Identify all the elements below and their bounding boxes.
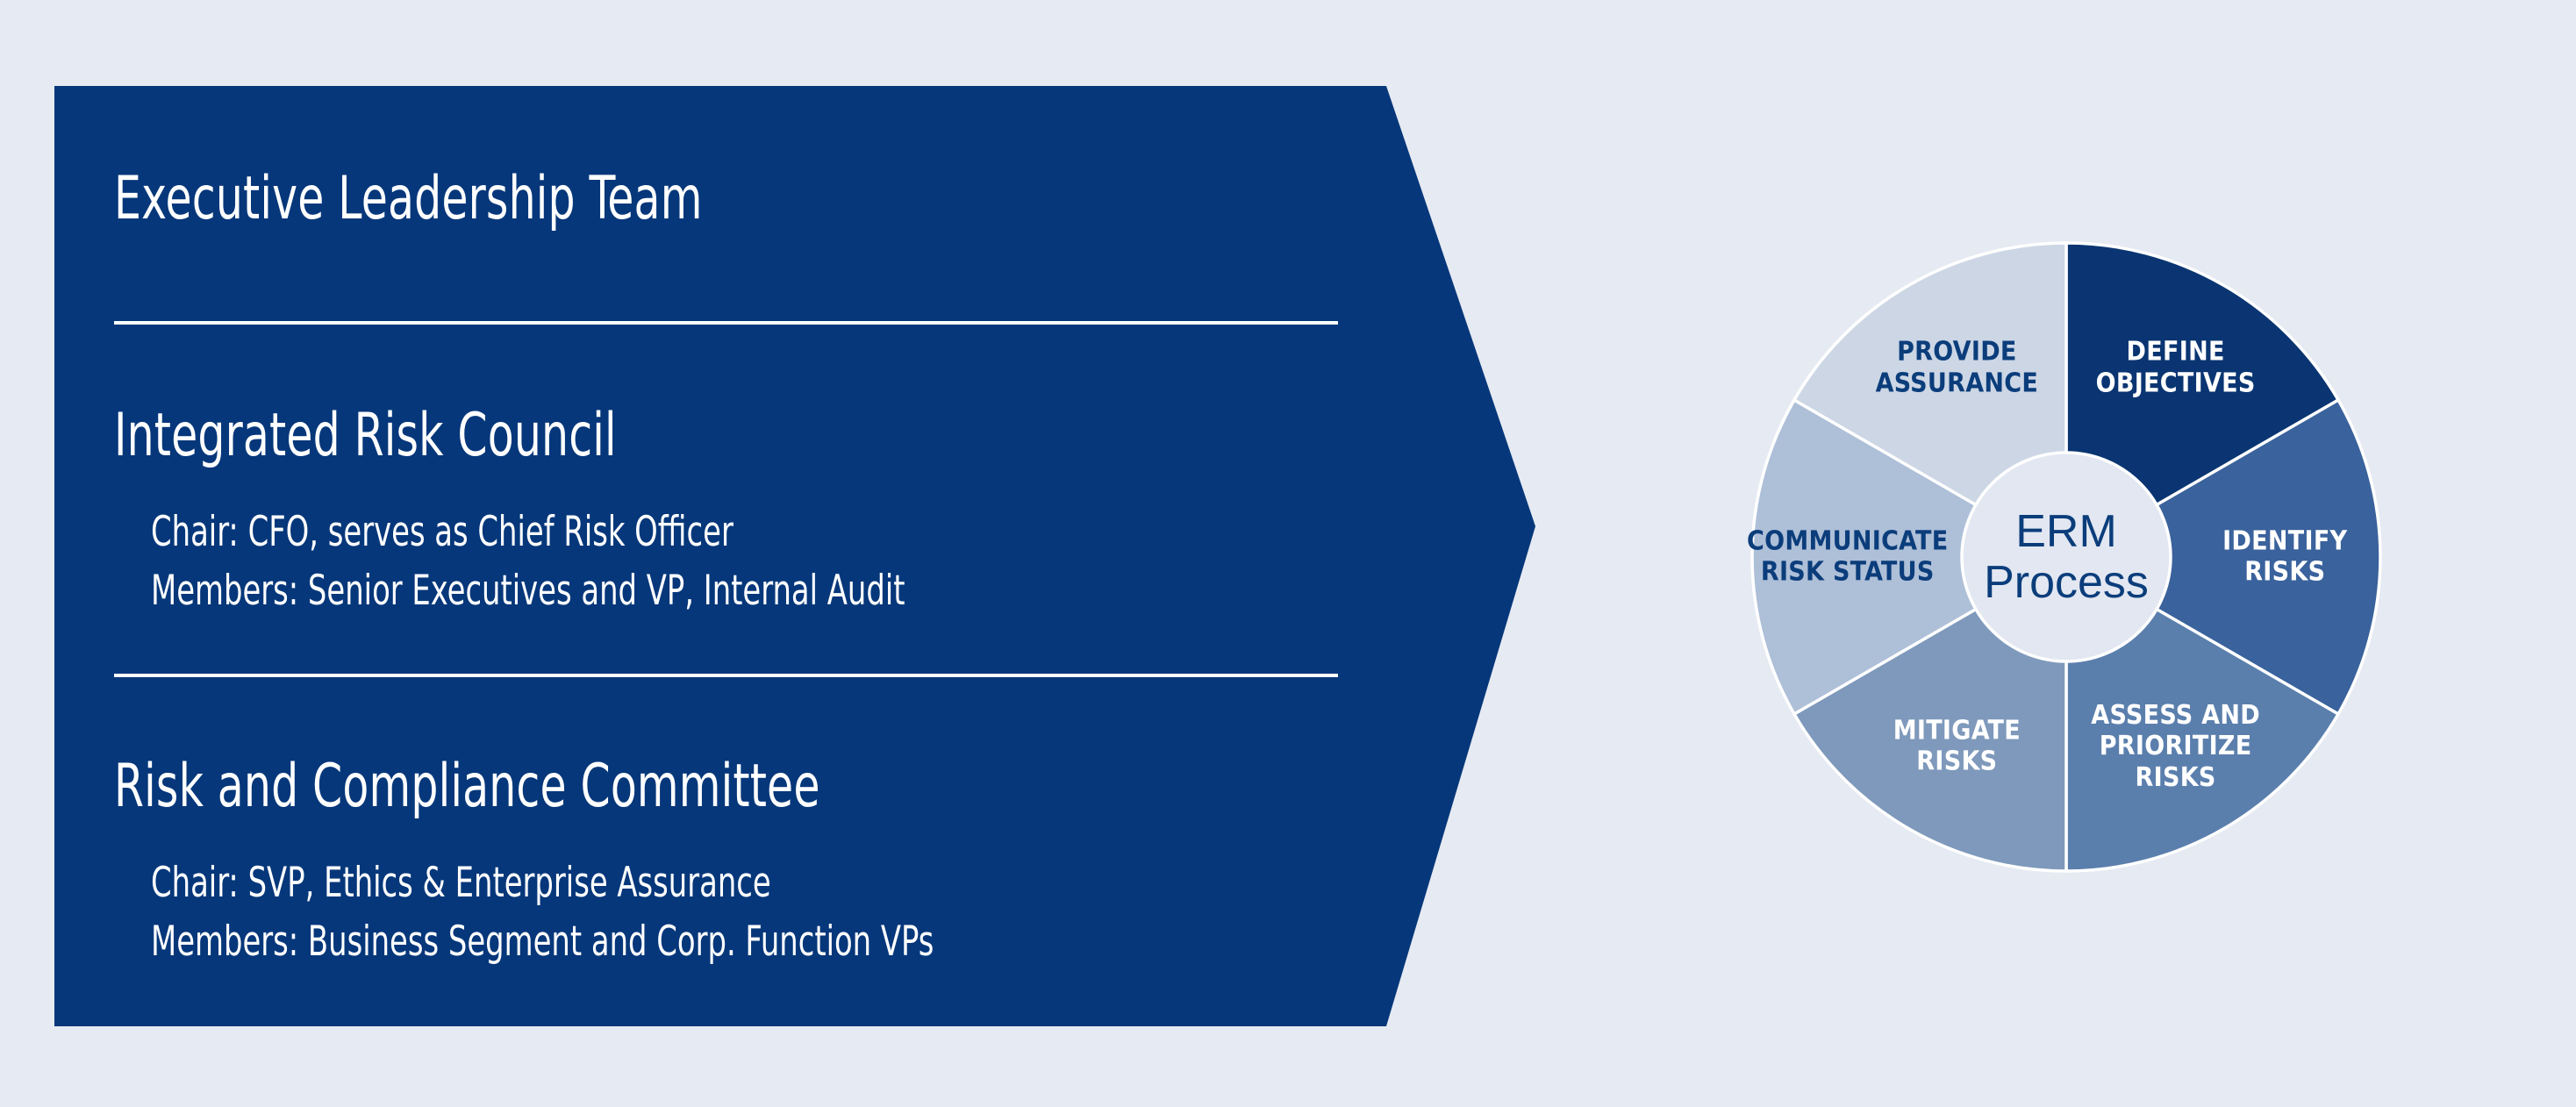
erm-wheel-svg: [1750, 241, 2382, 873]
governance-divider-2: [114, 674, 1338, 677]
governance-panel: Executive Leadership Team Integrated Ris…: [54, 86, 1546, 1026]
governance-block-title-executive-leadership-team: Executive Leadership Team: [114, 169, 703, 229]
governance-panel-content: Executive Leadership Team Integrated Ris…: [54, 86, 1344, 1026]
governance-block-line-irc-chair: Chair: CFO, serves as Chief Risk Officer: [151, 511, 733, 553]
erm-process-wheel: DEFINE OBJECTIVESIDENTIFY RISKSASSESS AN…: [1750, 241, 2382, 873]
governance-block-title-risk-and-compliance-committee: Risk and Compliance Committee: [114, 757, 820, 817]
slide-canvas: Executive Leadership Team Integrated Ris…: [0, 0, 2576, 1107]
governance-block-line-rcc-chair: Chair: SVP, Ethics & Enterprise Assuranc…: [151, 862, 771, 903]
governance-block-line-rcc-members: Members: Business Segment and Corp. Func…: [151, 921, 934, 962]
governance-divider-1: [114, 321, 1338, 325]
governance-block-line-irc-members: Members: Senior Executives and VP, Inter…: [151, 570, 905, 611]
erm-wheel-center-circle: [1962, 453, 2171, 661]
governance-block-title-integrated-risk-council: Integrated Risk Council: [114, 406, 617, 466]
